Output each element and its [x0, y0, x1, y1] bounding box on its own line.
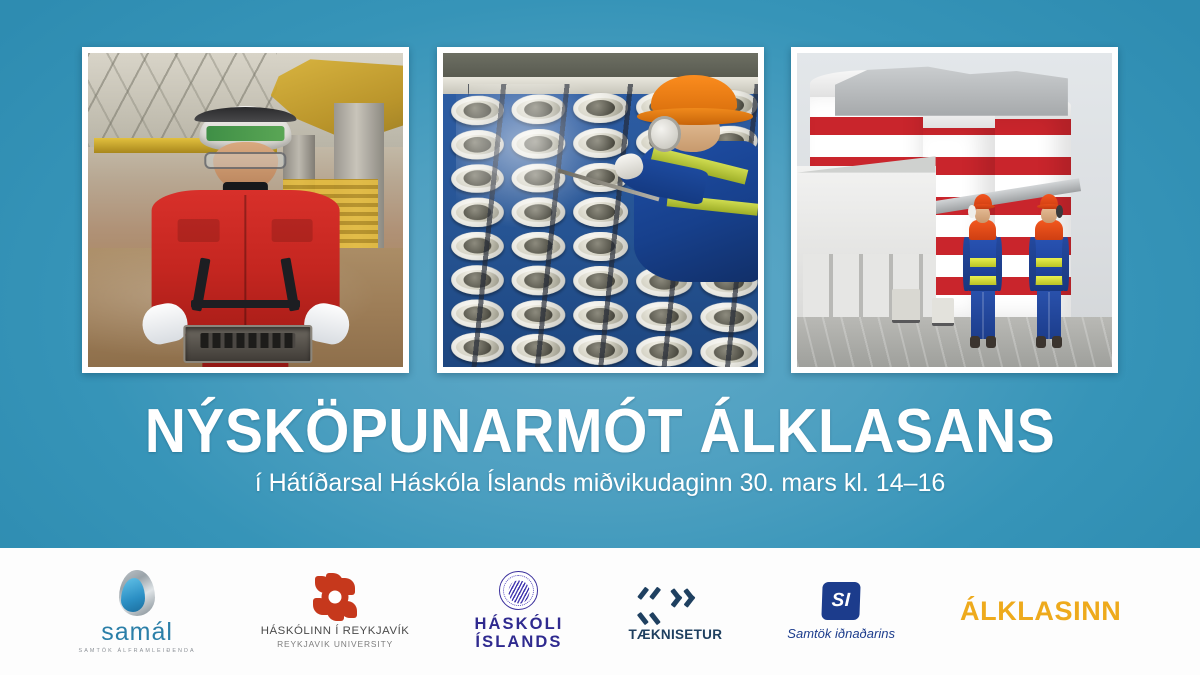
samtok-idnadarins-wordmark: Samtök iðnaðarins [787, 626, 895, 641]
sponsor-logo-samal: samál SAMTÖK ÁLFRAMLEIÐENDA [79, 570, 196, 654]
sponsor-logo-taeknisetur: TÆKNISETUR [629, 582, 723, 642]
photo3-worker-right-arm-right [1062, 237, 1068, 291]
reykjavik-university-flower-icon [313, 575, 357, 619]
taeknisetur-chevron-icon [637, 582, 713, 622]
alklasinn-wordmark: ÁLKLASINN [960, 596, 1121, 627]
photo3-worker-right-boot-right [1052, 336, 1062, 348]
photo3-worker-left-arm-right [996, 237, 1002, 291]
photo3-worker-right-arm-left [1029, 237, 1035, 291]
sponsor-logo-haskoli-islands: HÁSKÓLI ÍSLANDS [475, 571, 564, 651]
photo-anode-ports-grid-worker [437, 47, 764, 373]
photo3-worker-right-ear-defender [1056, 205, 1064, 219]
photo3-utility-cart [892, 289, 920, 323]
university-of-iceland-seal-icon [499, 571, 538, 610]
photo3-worker-right-legs [1037, 288, 1061, 339]
photo3-worker-right-boot-left [1036, 336, 1046, 348]
photo3-worker-left [964, 194, 1002, 345]
photo-strip [0, 47, 1200, 373]
sponsor-logo-haskolinn-i-reykjavik: HÁSKÓLINN Í REYKJAVÍK REYKJAVIK UNIVERSI… [261, 575, 410, 649]
samal-tagline: SAMTÖK ÁLFRAMLEIÐENDA [79, 648, 196, 654]
photo1-safety-harness [177, 258, 314, 326]
sponsor-logo-alklasinn: ÁLKLASINN [960, 596, 1121, 627]
photo1-safety-glasses [204, 152, 286, 169]
reykjavik-university-name-en: REYKJAVIK UNIVERSITY [277, 639, 393, 649]
sponsor-logo-samtok-idnadarins: SI Samtök iðnaðarins [787, 582, 895, 641]
page-subtitle: í Hátíðarsal Háskóla Íslands miðvikudagi… [0, 469, 1200, 498]
photo3-worker-left-boot-left [970, 336, 980, 348]
taeknisetur-wordmark: TÆKNISETUR [629, 627, 723, 642]
photo3-worker-right [1030, 194, 1068, 345]
photo3-worker-left-stripe [968, 258, 998, 267]
photo-red-white-silos-two-workers [791, 47, 1118, 373]
photo2-ear-defenders [648, 116, 681, 151]
photo2-light-sheen [456, 84, 620, 235]
photo3-worker-left-stripe-lower [968, 276, 998, 285]
samal-droplet-icon [119, 570, 155, 616]
photo3-worker-right-helmet [1040, 194, 1058, 209]
sponsor-bar: samál SAMTÖK ÁLFRAMLEIÐENDA HÁSKÓLINN Í … [0, 548, 1200, 675]
si-mark-letters: SI [831, 590, 851, 612]
photo3-worker-right-stripe-lower [1034, 276, 1064, 285]
photo3-worker-left-arm-left [963, 237, 969, 291]
photo2-worker [626, 75, 758, 282]
photo-smelter-worker-red-coveralls [82, 47, 409, 373]
photo3-worker-left-legs [971, 288, 995, 339]
poster-canvas: NÝSKÖPUNARMÓT ÁLKLASANS í Hátíðarsal Hás… [0, 0, 1200, 675]
si-mark-icon: SI [821, 582, 860, 620]
photo3-worker-right-stripe [1034, 258, 1064, 267]
university-of-iceland-line2: ÍSLANDS [475, 634, 562, 652]
photo3-utility-cart-secondary [932, 298, 954, 326]
samal-wordmark: samál [101, 620, 173, 645]
photo1-worker [148, 106, 343, 367]
page-title: NÝSKÖPUNARMÓT ÁLKLASANS [48, 396, 1152, 467]
reykjavik-university-name-is: HÁSKÓLINN Í REYKJAVÍK [261, 625, 410, 637]
photo3-worker-left-helmet [974, 194, 992, 209]
university-of-iceland-line1: HÁSKÓLI [475, 616, 564, 634]
photo1-equipment-tray [183, 325, 312, 363]
photo3-worker-left-boot-right [986, 336, 996, 348]
